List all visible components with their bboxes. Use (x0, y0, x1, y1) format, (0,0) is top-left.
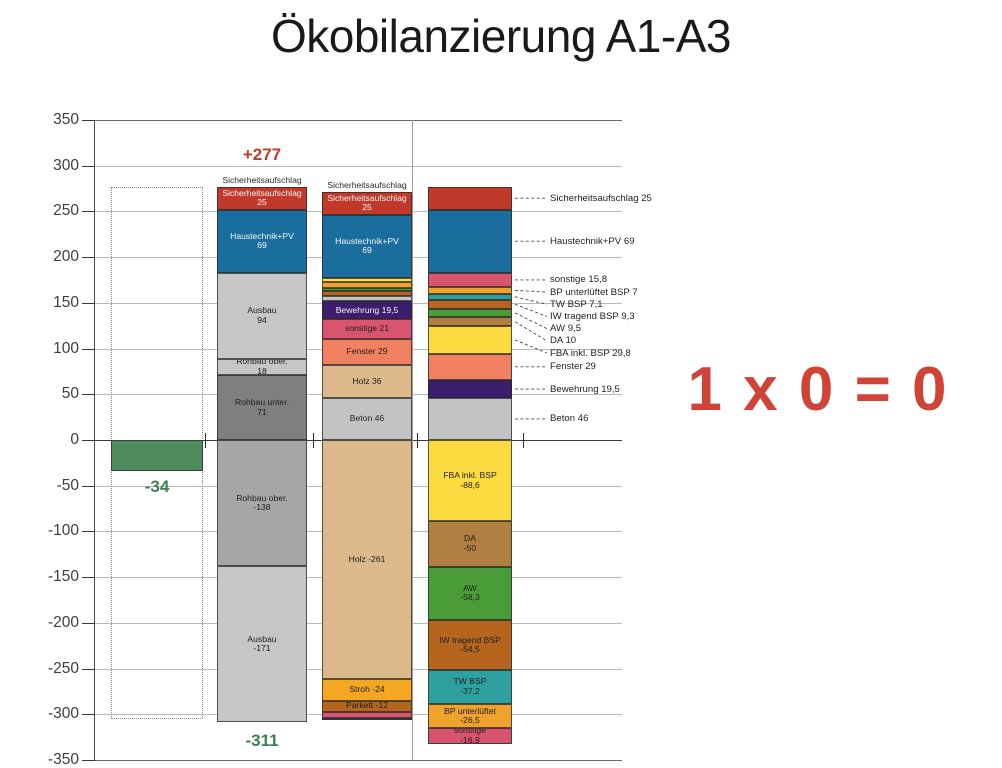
y-axis-label--300: -300 (17, 708, 79, 720)
plot-area: 350300250200150100500-50-100-150-200-250… (94, 120, 621, 760)
y-tick-150 (82, 303, 95, 304)
slide-root: Ökobilanzierung A1-A3 350300250200150100… (0, 0, 1002, 768)
legend-leader-lines (95, 120, 622, 760)
y-tick--200 (82, 623, 95, 624)
y-tick-100 (82, 349, 95, 350)
y-axis-label-150: 150 (17, 297, 79, 309)
y-tick-0 (82, 440, 95, 441)
y-axis-label--350: -350 (17, 754, 79, 766)
y-tick--350 (82, 760, 95, 761)
gridline--350 (95, 760, 622, 761)
y-tick-300 (82, 166, 95, 167)
y-axis-label-50: 50 (17, 388, 79, 400)
legend-item-8: FBA inkl. BSP 29,8 (550, 348, 631, 359)
slogan-text: 1 x 0 = 0 (648, 352, 988, 428)
y-axis-label--200: -200 (17, 617, 79, 629)
legend-item-6: AW 9,5 (550, 323, 581, 334)
y-axis-label-350: 350 (17, 114, 79, 126)
y-axis-label--100: -100 (17, 525, 79, 537)
legend-item-11: Beton 46 (550, 413, 588, 424)
y-axis-label-200: 200 (17, 251, 79, 263)
y-tick--50 (82, 486, 95, 487)
y-axis-label-250: 250 (17, 205, 79, 217)
legend-item-0: Sicherheitsaufschlag 25 (550, 193, 652, 204)
y-tick--100 (82, 531, 95, 532)
chart-container: 350300250200150100500-50-100-150-200-250… (14, 108, 608, 760)
legend-item-9: Fenster 29 (550, 361, 596, 372)
legend-item-4: TW BSP 7,1 (550, 299, 603, 310)
y-tick--250 (82, 669, 95, 670)
y-axis-label--150: -150 (17, 571, 79, 583)
legend-item-7: DA 10 (550, 335, 576, 346)
y-tick--150 (82, 577, 95, 578)
legend-item-1: Haustechnik+PV 69 (550, 236, 635, 247)
page-title: Ökobilanzierung A1-A3 (0, 6, 1002, 66)
y-tick--300 (82, 714, 95, 715)
y-tick-250 (82, 211, 95, 212)
y-axis-label--50: -50 (17, 480, 79, 492)
y-axis-label-300: 300 (17, 160, 79, 172)
legend-item-3: BP unterlüftet BSP 7 (550, 287, 638, 298)
legend-item-10: Bewehrung 19,5 (550, 384, 620, 395)
legend-item-2: sonstige 15,8 (550, 274, 607, 285)
legend-item-5: IW tragend BSP 9,3 (550, 311, 635, 322)
y-axis-label-0: 0 (17, 434, 79, 446)
y-axis-label--250: -250 (17, 663, 79, 675)
y-tick-50 (82, 394, 95, 395)
y-axis-label-100: 100 (17, 343, 79, 355)
y-tick-350 (82, 120, 95, 121)
y-tick-200 (82, 257, 95, 258)
